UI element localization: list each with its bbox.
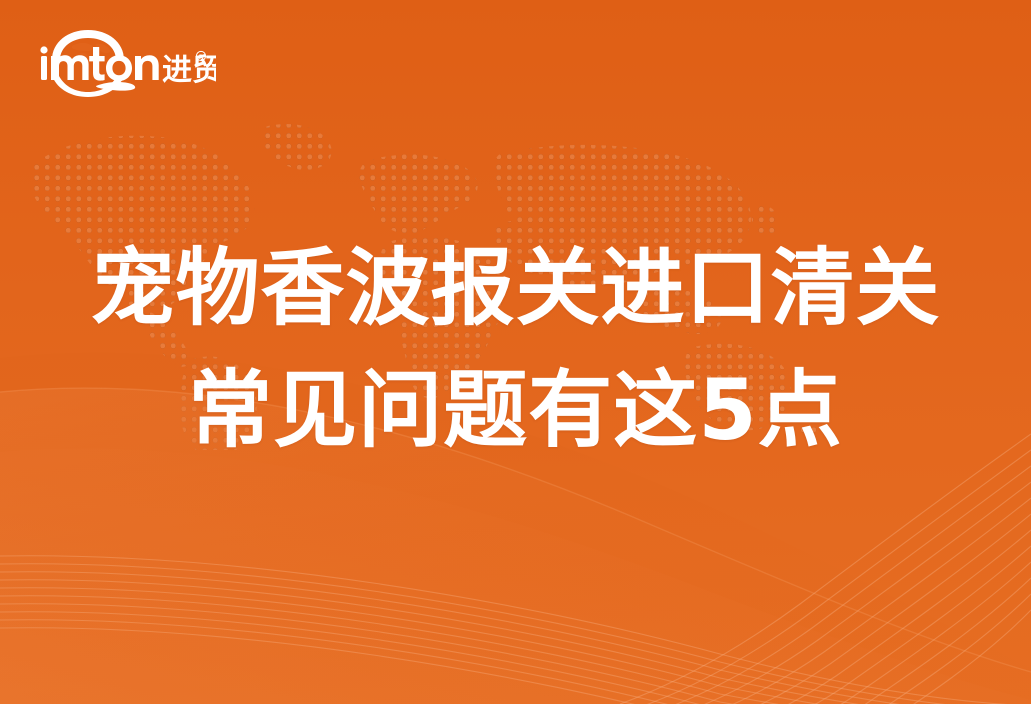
logo-wordmark-chinese: 进贸通 [162, 53, 216, 88]
curved-line-bundle [0, 424, 1031, 704]
svg-text:R: R [199, 54, 204, 61]
poster-title: 宠物香波报关进口清关 常见问题有这5点 [0, 238, 1031, 460]
title-line-1: 宠物香波报关进口清关 [0, 238, 1031, 338]
title-line-2: 常见问题有这5点 [0, 360, 1031, 460]
logo-chinese-text: 进贸通 [162, 53, 216, 88]
banner-poster: 进贸通 R 宠物香波报关进口清关 常见问题有这5点 [0, 0, 1031, 704]
brand-logo[interactable]: 进贸通 R [36, 26, 216, 100]
